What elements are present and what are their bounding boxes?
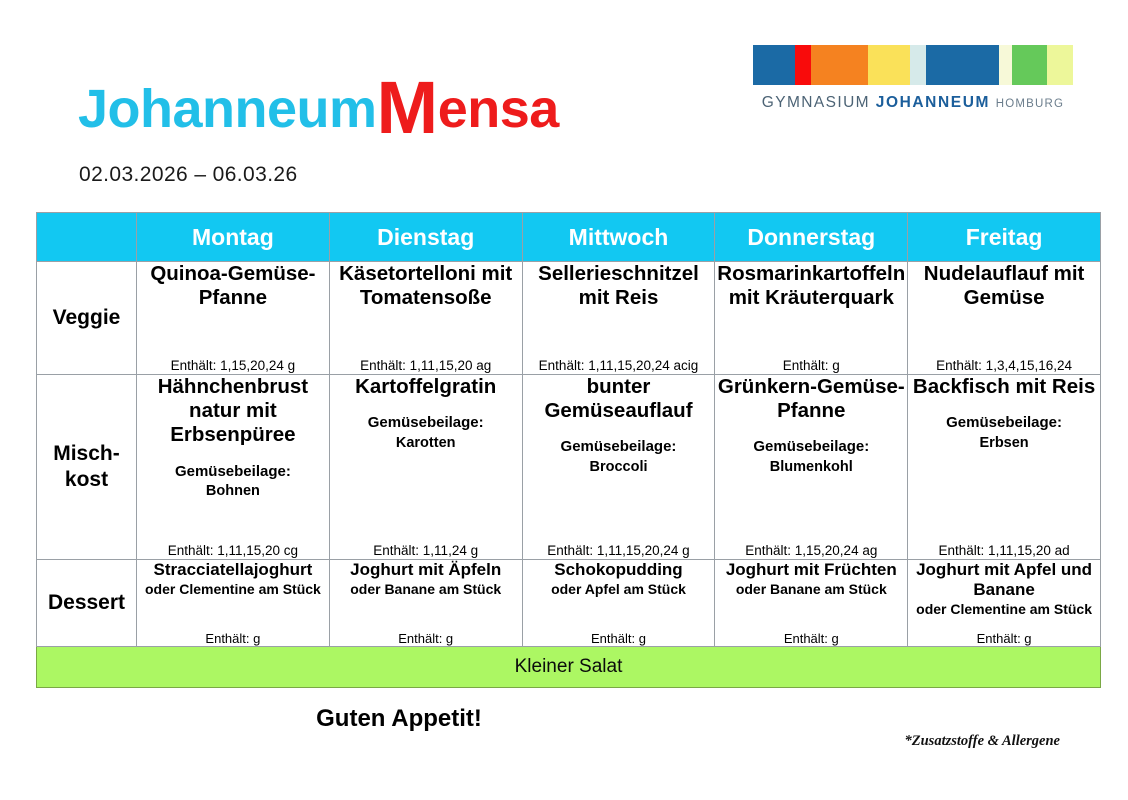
row-label-1-line2: kost: [65, 468, 108, 491]
row-label-1: Misch-kost: [37, 375, 137, 560]
logo-bar-4: [910, 45, 926, 85]
menu-cell: Käsetortelloni mit TomatensoßeEnthält: 1…: [329, 262, 522, 375]
bon-appetit-text: Guten Appetit!: [0, 705, 1128, 733]
menu-cell-top: bunter GemüseauflaufGemüsebeilage:Brocco…: [523, 375, 715, 476]
menu-cell-top: Joghurt mit Apfel und Bananeoder Clement…: [908, 560, 1100, 619]
page-header: JohanneumMensa 02.03.2026 – 06.03.26 GYM…: [0, 0, 1128, 200]
dish-name: Sellerieschnitzel mit Reis: [523, 262, 715, 310]
menu-cell-top: Nudelauflauf mit Gemüse: [908, 262, 1100, 310]
side-label: Gemüsebeilage:: [523, 437, 715, 457]
menu-table-footer: Kleiner Salat: [37, 647, 1101, 688]
brand-johanneum: Johanneum: [78, 79, 377, 139]
menu-cell-content: bunter GemüseauflaufGemüsebeilage:Brocco…: [523, 375, 715, 559]
logo-bar-7: [1012, 45, 1047, 85]
menu-cell-top: Joghurt mit Äpfelnoder Banane am Stück: [330, 560, 522, 599]
logo-text-johanneum: JOHANNEUM: [876, 94, 990, 111]
table-row: Misch-kostHähnchenbrust natur mit Erbsen…: [37, 375, 1101, 560]
alternative-option: oder Banane am Stück: [330, 581, 522, 599]
logo-color-bars: [753, 45, 1073, 85]
dish-name: Quinoa-Gemüse-Pfanne: [137, 262, 329, 310]
logo-bar-1: [795, 45, 811, 85]
logo-bar-2: [811, 45, 869, 85]
allergens-text: Enthält: g: [908, 631, 1100, 647]
menu-cell: Hähnchenbrust natur mit ErbsenpüreeGemüs…: [137, 375, 330, 560]
dish-name: Käsetortelloni mit Tomatensoße: [330, 262, 522, 310]
menu-cell-content: Quinoa-Gemüse-PfanneEnthält: 1,15,20,24 …: [137, 262, 329, 374]
menu-cell: Rosmarinkartoffeln mit KräuterquarkEnthä…: [715, 262, 908, 375]
bon-appetit-label: Guten Appetit!: [316, 705, 482, 733]
allergens-text: Enthält: 1,11,15,20 cg: [137, 543, 329, 559]
page-title: JohanneumMensa: [78, 82, 559, 136]
brand-mensa-rest: ensa: [438, 79, 559, 139]
table-header-row: Montag Dienstag Mittwoch Donnerstag Frei…: [37, 213, 1101, 262]
header-day-freitag: Freitag: [908, 213, 1101, 262]
menu-cell-content: Sellerieschnitzel mit ReisEnthält: 1,11,…: [523, 262, 715, 374]
logo-text-homburg: HOMBURG: [996, 98, 1064, 110]
menu-cell-top: Sellerieschnitzel mit Reis: [523, 262, 715, 310]
menu-cell-content: Joghurt mit Früchtenoder Banane am Stück…: [715, 560, 907, 646]
menu-cell: Joghurt mit Früchtenoder Banane am Stück…: [715, 560, 908, 647]
school-logo: GYMNASIUM JOHANNEUM HOMBURG: [753, 45, 1073, 112]
allergens-text: Enthält: 1,11,15,20,24 acig: [523, 358, 715, 374]
allergens-text: Enthält: 1,11,15,20 ag: [330, 358, 522, 374]
logo-text-gymnasium: GYMNASIUM: [762, 94, 870, 111]
brand-mensa-capital: M: [377, 66, 438, 149]
allergens-text: Enthält: g: [715, 631, 907, 647]
salad-label: Kleiner Salat: [37, 647, 1101, 688]
menu-cell-top: Schokopuddingoder Apfel am Stück: [523, 560, 715, 599]
menu-cell: Nudelauflauf mit GemüseEnthält: 1,3,4,15…: [908, 262, 1101, 375]
allergens-text: Enthält: 1,11,24 g: [330, 543, 522, 559]
menu-cell-content: Rosmarinkartoffeln mit KräuterquarkEnthä…: [715, 262, 907, 374]
dish-name: Backfisch mit Reis: [908, 375, 1100, 399]
menu-cell-top: Backfisch mit ReisGemüsebeilage:Erbsen: [908, 375, 1100, 452]
menu-table-body: VeggieQuinoa-Gemüse-PfanneEnthält: 1,15,…: [37, 262, 1101, 647]
menu-table-header: Montag Dienstag Mittwoch Donnerstag Frei…: [37, 213, 1101, 262]
dish-name: Joghurt mit Früchten: [715, 560, 907, 580]
menu-cell-top: Rosmarinkartoffeln mit Kräuterquark: [715, 262, 907, 310]
header-day-dienstag: Dienstag: [329, 213, 522, 262]
menu-cell-top: Stracciatellajoghurtoder Clementine am S…: [137, 560, 329, 599]
menu-cell-content: Grünkern-Gemüse-PfanneGemüsebeilage:Blum…: [715, 375, 907, 559]
logo-bar-3: [868, 45, 910, 85]
allergens-text: Enthält: 1,3,4,15,16,24: [908, 358, 1100, 374]
dish-name: Rosmarinkartoffeln mit Kräuterquark: [715, 262, 907, 310]
allergens-text: Enthält: g: [523, 631, 715, 647]
dish-name: Joghurt mit Äpfeln: [330, 560, 522, 580]
logo-bar-5: [926, 45, 1000, 85]
menu-cell: bunter GemüseauflaufGemüsebeilage:Brocco…: [522, 375, 715, 560]
side-label: Gemüsebeilage:: [330, 413, 522, 433]
header-day-donnerstag: Donnerstag: [715, 213, 908, 262]
header-day-mittwoch: Mittwoch: [522, 213, 715, 262]
header-day-montag: Montag: [137, 213, 330, 262]
table-row: VeggieQuinoa-Gemüse-PfanneEnthält: 1,15,…: [37, 262, 1101, 375]
allergens-text: Enthält: g: [137, 631, 329, 647]
brand-mensa: Mensa: [377, 79, 559, 139]
dish-name: bunter Gemüseauflauf: [523, 375, 715, 423]
menu-cell-content: Käsetortelloni mit TomatensoßeEnthält: 1…: [330, 262, 522, 374]
dish-name: Schokopudding: [523, 560, 715, 580]
menu-cell-content: KartoffelgratinGemüsebeilage:KarottenEnt…: [330, 375, 522, 559]
allergens-text: Enthält: 1,15,20,24 g: [137, 358, 329, 374]
menu-cell-top: Joghurt mit Früchtenoder Banane am Stück: [715, 560, 907, 599]
logo-bar-0: [753, 45, 795, 85]
alternative-option: Broccoli: [523, 458, 715, 476]
allergens-text: Enthält: g: [330, 631, 522, 647]
alternative-option: Bohnen: [137, 482, 329, 500]
allergens-text: Enthält: g: [715, 358, 907, 374]
side-label: Gemüsebeilage:: [908, 413, 1100, 433]
dish-name: Hähnchenbrust natur mit Erbsenpüree: [137, 375, 329, 448]
menu-cell-top: Hähnchenbrust natur mit ErbsenpüreeGemüs…: [137, 375, 329, 500]
menu-cell: KartoffelgratinGemüsebeilage:KarottenEnt…: [329, 375, 522, 560]
allergens-text: Enthält: 1,15,20,24 ag: [715, 543, 907, 559]
menu-cell-content: Joghurt mit Äpfelnoder Banane am StückEn…: [330, 560, 522, 646]
row-label-2: Dessert: [37, 560, 137, 647]
side-label: Gemüsebeilage:: [715, 437, 907, 457]
menu-cell-content: Schokopuddingoder Apfel am StückEnthält:…: [523, 560, 715, 646]
menu-cell-content: Hähnchenbrust natur mit ErbsenpüreeGemüs…: [137, 375, 329, 559]
date-range: 02.03.2026 – 06.03.26: [79, 163, 298, 187]
menu-cell: Sellerieschnitzel mit ReisEnthält: 1,11,…: [522, 262, 715, 375]
alternative-option: oder Clementine am Stück: [908, 601, 1100, 619]
menu-cell: Stracciatellajoghurtoder Clementine am S…: [137, 560, 330, 647]
menu-cell: Grünkern-Gemüse-PfanneGemüsebeilage:Blum…: [715, 375, 908, 560]
menu-cell: Backfisch mit ReisGemüsebeilage:ErbsenEn…: [908, 375, 1101, 560]
menu-cell-top: KartoffelgratinGemüsebeilage:Karotten: [330, 375, 522, 452]
menu-cell-top: Käsetortelloni mit Tomatensoße: [330, 262, 522, 310]
dish-name: Nudelauflauf mit Gemüse: [908, 262, 1100, 310]
menu-table: Montag Dienstag Mittwoch Donnerstag Frei…: [36, 212, 1101, 688]
menu-cell: Quinoa-Gemüse-PfanneEnthält: 1,15,20,24 …: [137, 262, 330, 375]
menu-cell-content: Backfisch mit ReisGemüsebeilage:ErbsenEn…: [908, 375, 1100, 559]
logo-bar-8: [1047, 45, 1073, 85]
alternative-option: oder Clementine am Stück: [137, 581, 329, 599]
menu-cell-content: Joghurt mit Apfel und Bananeoder Clement…: [908, 560, 1100, 646]
dish-name: Stracciatellajoghurt: [137, 560, 329, 580]
alternative-option: Blumenkohl: [715, 458, 907, 476]
salad-row: Kleiner Salat: [37, 647, 1101, 688]
side-label: Gemüsebeilage:: [137, 462, 329, 482]
alternative-option: oder Banane am Stück: [715, 581, 907, 599]
menu-cell: Joghurt mit Äpfelnoder Banane am StückEn…: [329, 560, 522, 647]
menu-cell-top: Grünkern-Gemüse-PfanneGemüsebeilage:Blum…: [715, 375, 907, 476]
header-corner-blank: [37, 213, 137, 262]
menu-cell: Schokopuddingoder Apfel am StückEnthält:…: [522, 560, 715, 647]
alternative-option: Karotten: [330, 434, 522, 452]
menu-cell-content: Stracciatellajoghurtoder Clementine am S…: [137, 560, 329, 646]
alternative-option: Erbsen: [908, 434, 1100, 452]
dish-name: Joghurt mit Apfel und Banane: [908, 560, 1100, 600]
logo-bar-6: [999, 45, 1012, 85]
allergens-text: Enthält: 1,11,15,20,24 g: [523, 543, 715, 559]
table-row: DessertStracciatellajoghurtoder Clementi…: [37, 560, 1101, 647]
menu-cell-content: Nudelauflauf mit GemüseEnthält: 1,3,4,15…: [908, 262, 1100, 374]
allergens-footnote: *Zusatzstoffe & Allergene: [905, 733, 1060, 750]
menu-cell: Joghurt mit Apfel und Bananeoder Clement…: [908, 560, 1101, 647]
allergens-text: Enthält: 1,11,15,20 ad: [908, 543, 1100, 559]
menu-cell-top: Quinoa-Gemüse-Pfanne: [137, 262, 329, 310]
logo-text: GYMNASIUM JOHANNEUM HOMBURG: [753, 94, 1073, 112]
dish-name: Grünkern-Gemüse-Pfanne: [715, 375, 907, 423]
row-label-0: Veggie: [37, 262, 137, 375]
dish-name: Kartoffelgratin: [330, 375, 522, 399]
alternative-option: oder Apfel am Stück: [523, 581, 715, 599]
